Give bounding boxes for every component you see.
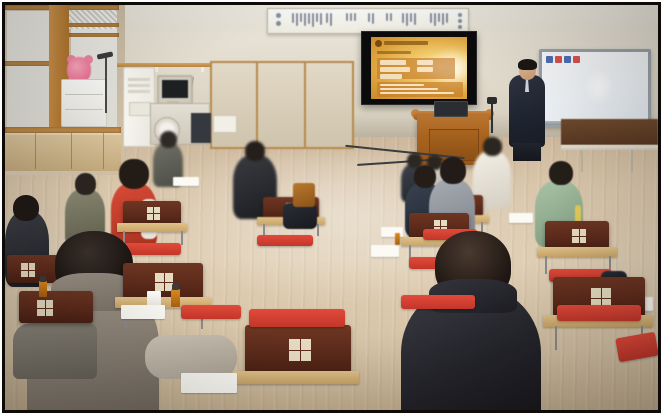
photo-frame: [0, 0, 663, 415]
window-glass-left: [7, 11, 51, 129]
cushion-front-center-2: [401, 295, 475, 309]
slide-title-text: [384, 41, 428, 45]
window-head-right: [67, 23, 119, 27]
rear-table: [561, 145, 658, 150]
presenter-legs: [513, 143, 541, 161]
desk-top-mid-far-right: [537, 247, 617, 257]
cushion-front-center: [249, 309, 345, 327]
rear-cabinet: [561, 119, 658, 145]
microphone-stand: [491, 101, 493, 133]
bottle-cap-front-left: [172, 284, 179, 290]
presenter-hair: [518, 59, 537, 70]
whiteboard-note-1: [546, 56, 553, 63]
whiteboard[interactable]: [539, 49, 651, 127]
cushion-front-left: [181, 305, 241, 319]
desk-top-front-center: [233, 371, 359, 384]
window-mullion-right: [69, 33, 119, 37]
presentation-slide: [371, 37, 467, 99]
cushion-mid-left: [123, 243, 181, 255]
bottle-front-left: [171, 289, 180, 307]
projection-screen: [361, 31, 477, 105]
bottle-cap-front-left-2: [40, 276, 46, 282]
bottle-front-left-2: [39, 281, 47, 297]
desk-top-mid-left: [117, 223, 187, 232]
papers-right: [509, 213, 533, 223]
cushion-front-right: [557, 305, 641, 321]
slide-subtitle-text: [377, 51, 411, 54]
desk-front-center: [245, 325, 351, 373]
microphone-icon: [487, 97, 497, 104]
desk-front-left: [123, 263, 203, 299]
laptop[interactable]: [434, 101, 468, 117]
whiteboard-glare: [584, 68, 614, 104]
whiteboard-note-4: [573, 56, 580, 63]
classroom-scene: [5, 5, 658, 410]
sliding-doors[interactable]: [210, 61, 354, 149]
desk-mid-far-right: [545, 221, 609, 249]
paper-front-center: [181, 373, 237, 393]
wall-plate: [213, 115, 237, 133]
whiteboard-note-2: [555, 56, 562, 63]
vest-arm-left: [13, 323, 97, 379]
paper-back-left: [173, 177, 199, 186]
papers-floor-center: [371, 245, 399, 257]
bag-brown: [293, 183, 315, 207]
dark-equipment-box: [191, 113, 211, 143]
window-mullion-left: [5, 61, 53, 66]
whiteboard-note-3: [564, 56, 571, 63]
desk-front-left-2: [19, 291, 93, 323]
bottle-floor: [395, 233, 400, 245]
floor-lamp-pole: [105, 57, 107, 113]
paper-front-left: [121, 305, 165, 319]
cushion-back-center: [257, 235, 313, 246]
desk-mid-left: [123, 201, 181, 225]
slide-logo-icon: [375, 40, 382, 47]
plastic-drawer-unit: [61, 79, 107, 127]
